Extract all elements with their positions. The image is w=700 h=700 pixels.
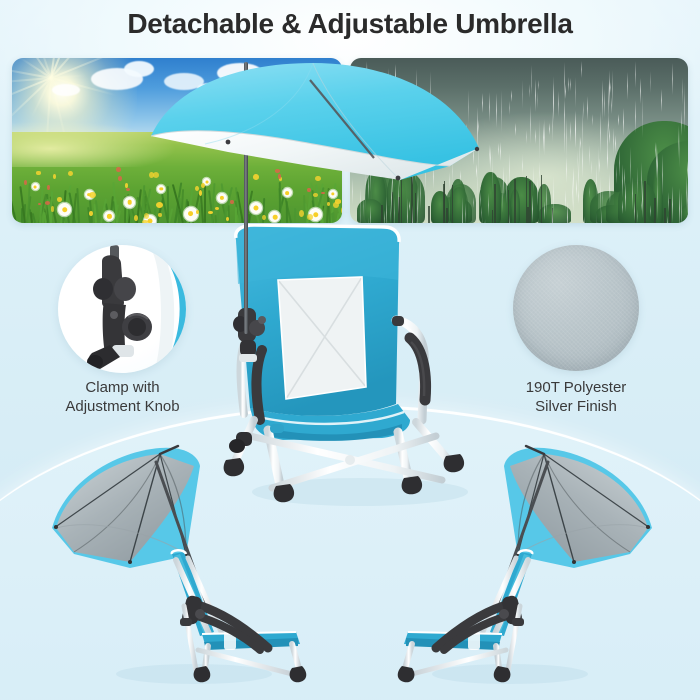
clamp-detail-circle xyxy=(58,245,186,373)
clamp-caption: Clamp with Adjustment Knob xyxy=(30,378,215,416)
fabric-swatch-icon xyxy=(513,245,639,371)
page-title: Detachable & Adjustable Umbrella xyxy=(0,8,700,40)
umbrella-canopy-main xyxy=(150,62,480,194)
fabric-caption: 190T Polyester Silver Finish xyxy=(487,378,665,416)
clamp-caption-line1: Clamp with xyxy=(30,378,215,397)
main-beach-chair xyxy=(210,224,500,506)
fabric-caption-line1: 190T Polyester xyxy=(487,378,665,397)
product-infographic: Detachable & Adjustable Umbrella xyxy=(0,0,700,700)
pole-lower-bracket xyxy=(229,432,252,453)
clamp-caption-line2: Adjustment Knob xyxy=(30,397,215,416)
clamp-icon xyxy=(58,245,186,373)
fabric-caption-line2: Silver Finish xyxy=(487,397,665,416)
